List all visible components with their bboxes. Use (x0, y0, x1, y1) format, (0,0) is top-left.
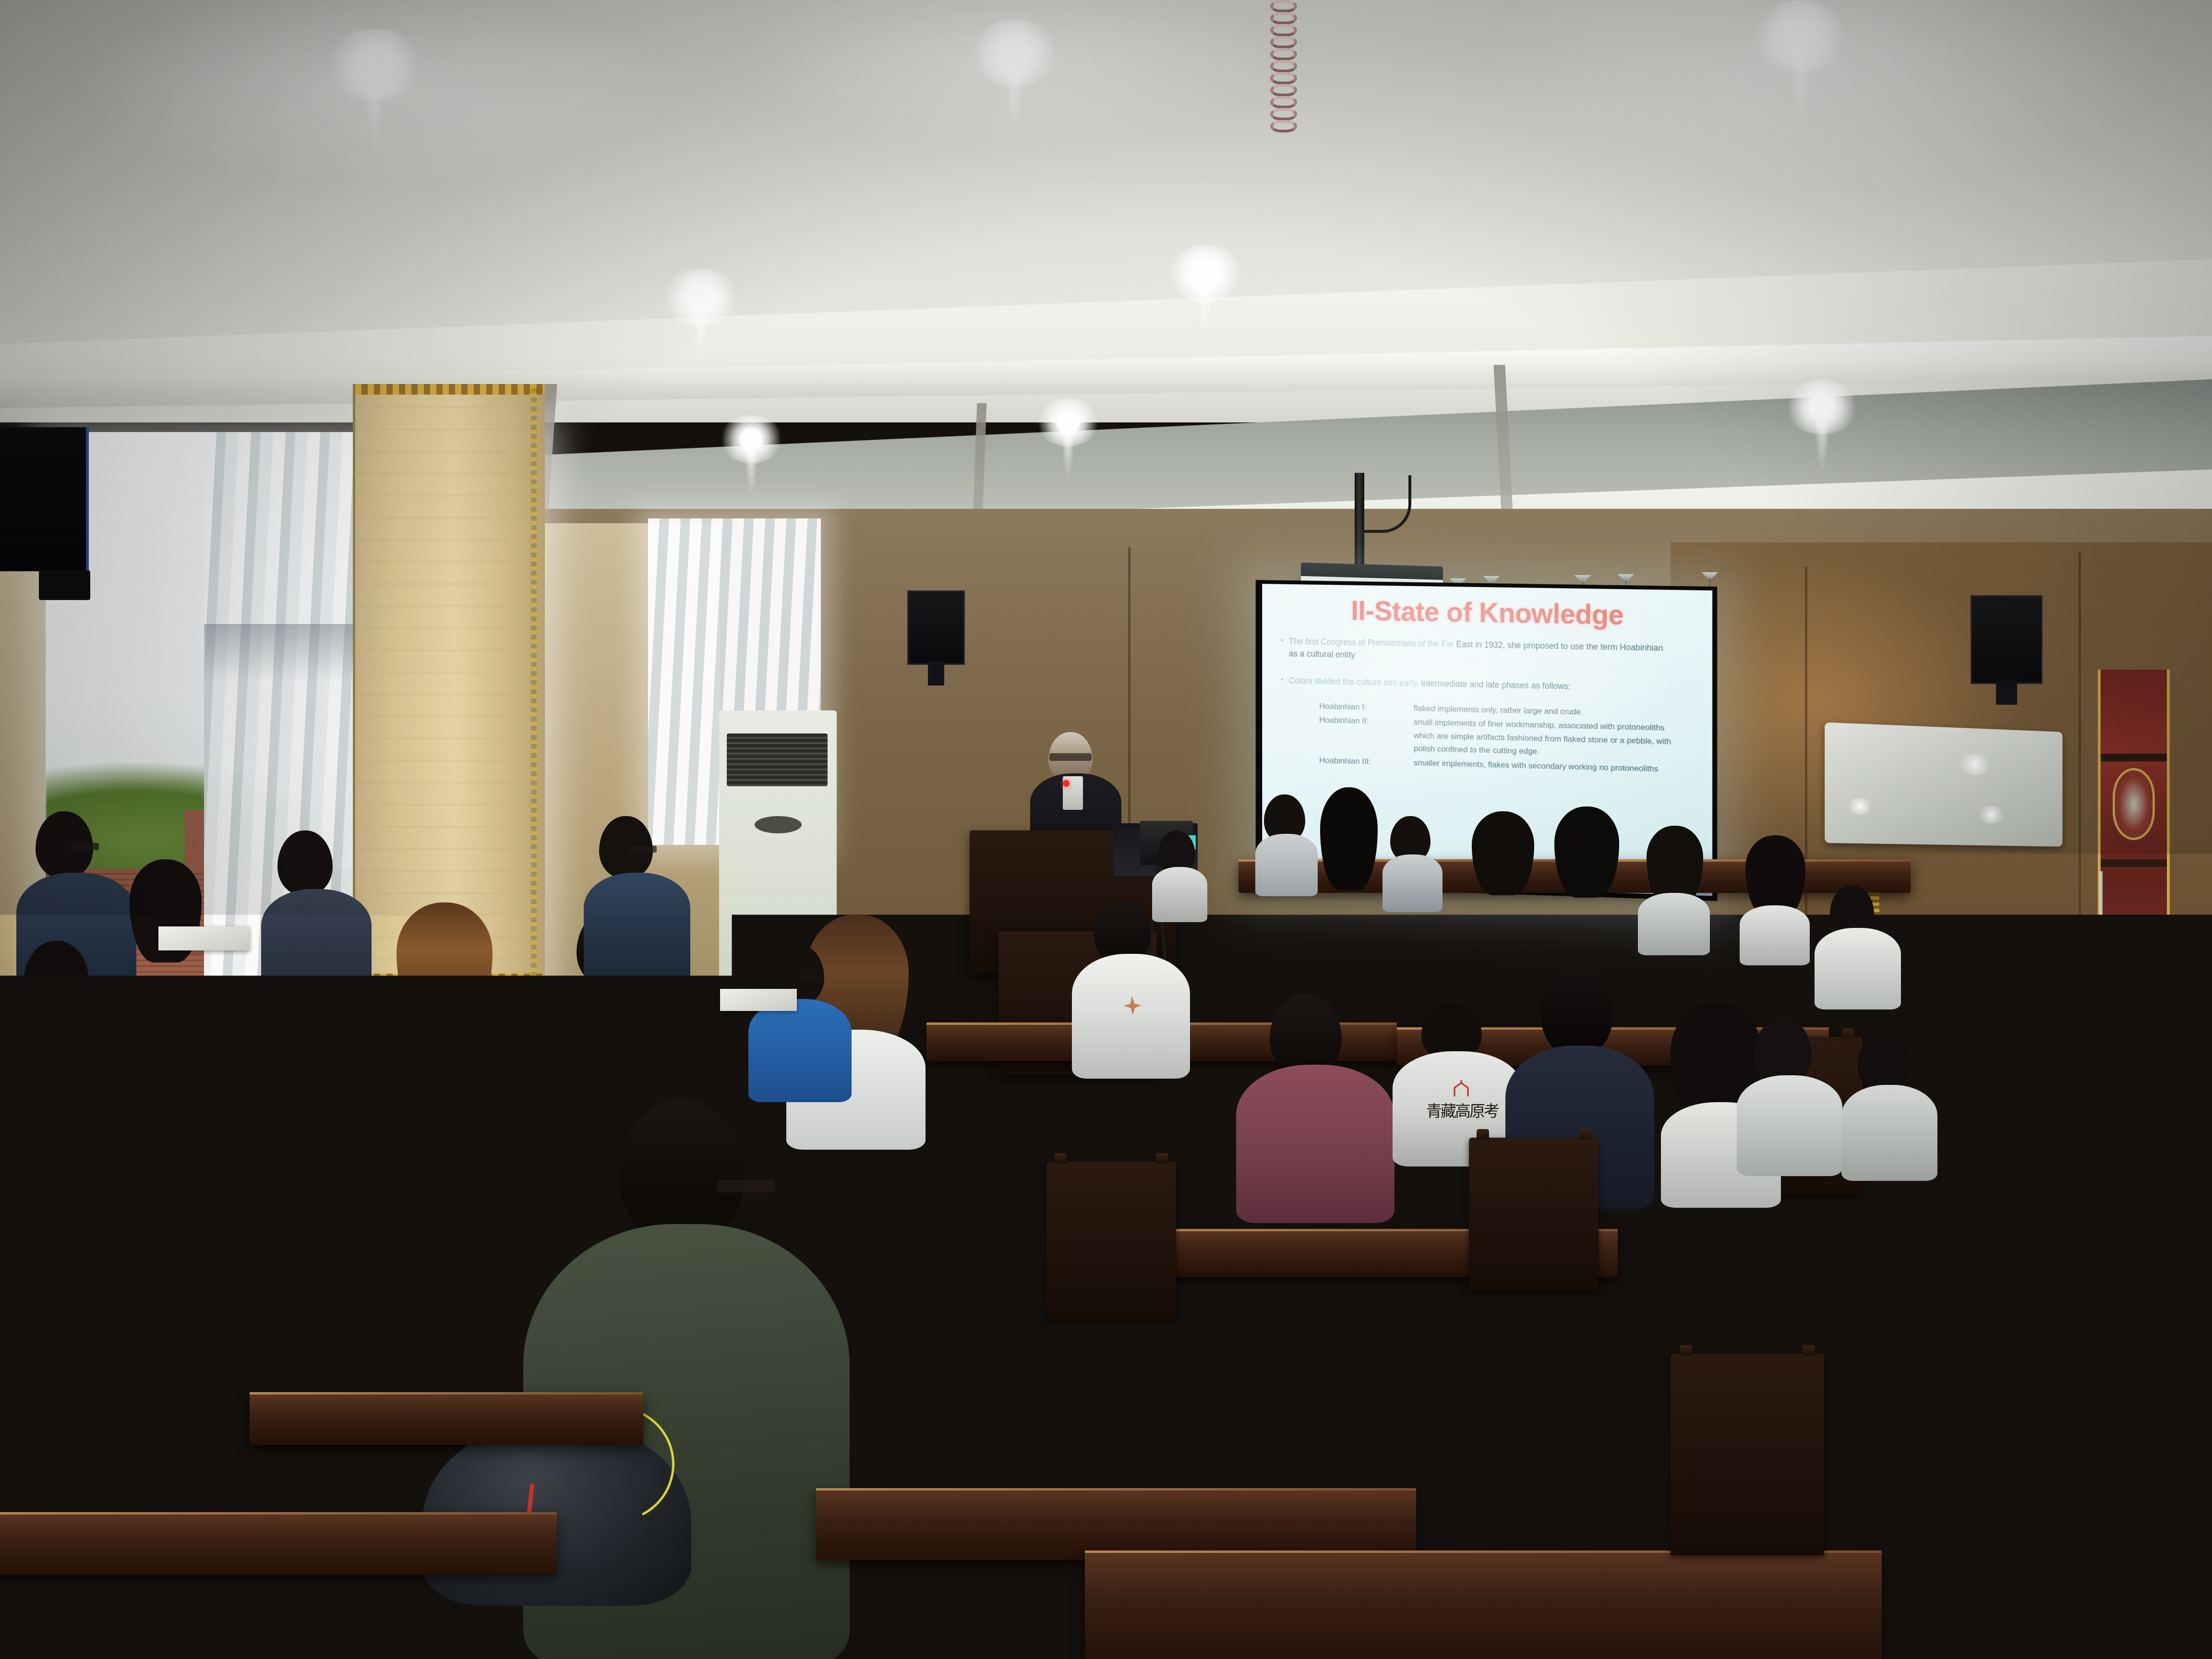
ceiling-spotlight (1166, 245, 1243, 302)
person-hair (1745, 835, 1805, 917)
phase-name: Hoabinhian III: (1319, 754, 1414, 769)
loose-paper (403, 1059, 524, 1093)
slide-bullet-text: Colani divided the culture into early, i… (1289, 674, 1571, 692)
desk-foreground (1085, 1551, 1882, 1659)
person-torso (221, 1166, 394, 1330)
slide-bullet: • The first Congress of Prehistorians of… (1281, 635, 1668, 667)
person-torso (1841, 1085, 1937, 1181)
eyeglasses (630, 846, 657, 853)
chair-back (792, 1200, 926, 1363)
person-torso (1815, 928, 1901, 1010)
person-torso (0, 1301, 278, 1659)
person-torso (1072, 954, 1190, 1079)
slide-title: II-State of Knowledge (1278, 596, 1699, 630)
decorative-pillar (353, 384, 545, 984)
shirt-print-text: 青藏高原考 (1426, 1103, 1508, 1121)
eyeglasses (717, 1180, 775, 1192)
presenter-mic-indicator (1063, 780, 1070, 787)
projector-mount-pole (1355, 473, 1364, 576)
bench-foreground-left (0, 1512, 557, 1575)
shirt-graphic-icon (1451, 1080, 1471, 1099)
eyeglasses (70, 843, 99, 850)
eyeglasses (797, 975, 824, 982)
person-torso (1236, 1065, 1395, 1223)
person-head (277, 830, 333, 895)
loose-paper (720, 989, 797, 1011)
person-head (1541, 965, 1613, 1056)
person-torso (1737, 1075, 1842, 1176)
person-torso (748, 999, 852, 1102)
presenter-glasses (1049, 753, 1092, 761)
chair-back (1469, 1138, 1599, 1291)
whiteboard-glare (1975, 805, 2008, 823)
person-torso (1638, 893, 1710, 955)
wall-speaker-center (907, 590, 965, 665)
bullet-marker: • (1281, 635, 1283, 660)
chair-back-foreground (1671, 1354, 1824, 1555)
person-hair (1472, 811, 1534, 895)
ceiling-spotlight (1786, 379, 1858, 434)
ceiling-spotlight (326, 29, 422, 101)
phase-description: small implements of finer workmanship, a… (1414, 716, 1684, 762)
ceiling-spotlight (720, 415, 782, 463)
person-head (1270, 994, 1342, 1075)
ac-vent (755, 816, 802, 833)
person-head (24, 941, 89, 1013)
phase-name: Hoabinhian II: (1319, 714, 1414, 729)
whiteboard-glare (1845, 798, 1875, 815)
person-head (1754, 1018, 1812, 1085)
notebook (331, 1315, 432, 1335)
chair-back (1046, 1162, 1176, 1320)
ceiling-spotlight (1752, 0, 1848, 72)
bench-foreground-center (816, 1488, 1416, 1560)
textbook (336, 1339, 437, 1381)
person-torso (1152, 867, 1207, 922)
slide-bullet: • Colani divided the culture into early,… (1281, 674, 1668, 695)
person-hair (1554, 806, 1619, 898)
hand (278, 1455, 350, 1505)
ceiling-spotlight (970, 19, 1058, 86)
ac-grille (727, 733, 828, 786)
person-torso (1255, 834, 1318, 896)
decorative-wall-banner (2098, 670, 2170, 1140)
wall-speaker-left (0, 427, 89, 571)
lecture-hall-scene: II-State of Knowledge • The first Congre… (0, 0, 2212, 1659)
desk-center-front (912, 1373, 1479, 1431)
person-torso (584, 873, 690, 983)
person-torso (1740, 905, 1810, 965)
person-hair (245, 1051, 355, 1186)
person-torso (261, 889, 372, 1004)
wall-speaker-right (1971, 595, 2043, 684)
ceiling-spotlight (662, 269, 739, 326)
coiled-streamer-decoration (1270, 0, 1299, 144)
mobile-whiteboard[interactable] (1825, 722, 2062, 847)
person-torso (1382, 854, 1443, 912)
slide-phase-list: Hoabinhian I: flaked implements only, ra… (1319, 699, 1699, 777)
person-torso (542, 977, 681, 1111)
bullet-marker: • (1281, 674, 1283, 686)
whiteboard-glare (1956, 754, 1994, 776)
slide-bullet-text: The first Congress of Prehistorians of t… (1289, 635, 1668, 667)
person-head (1858, 1032, 1910, 1093)
phase-name: Hoabinhian I: (1319, 699, 1414, 715)
wall-panel-seam (1128, 547, 1130, 835)
desk-left-front (250, 1392, 643, 1445)
person-hair (1320, 787, 1378, 890)
loose-paper (158, 926, 250, 950)
ceiling-spotlight (1037, 398, 1099, 446)
